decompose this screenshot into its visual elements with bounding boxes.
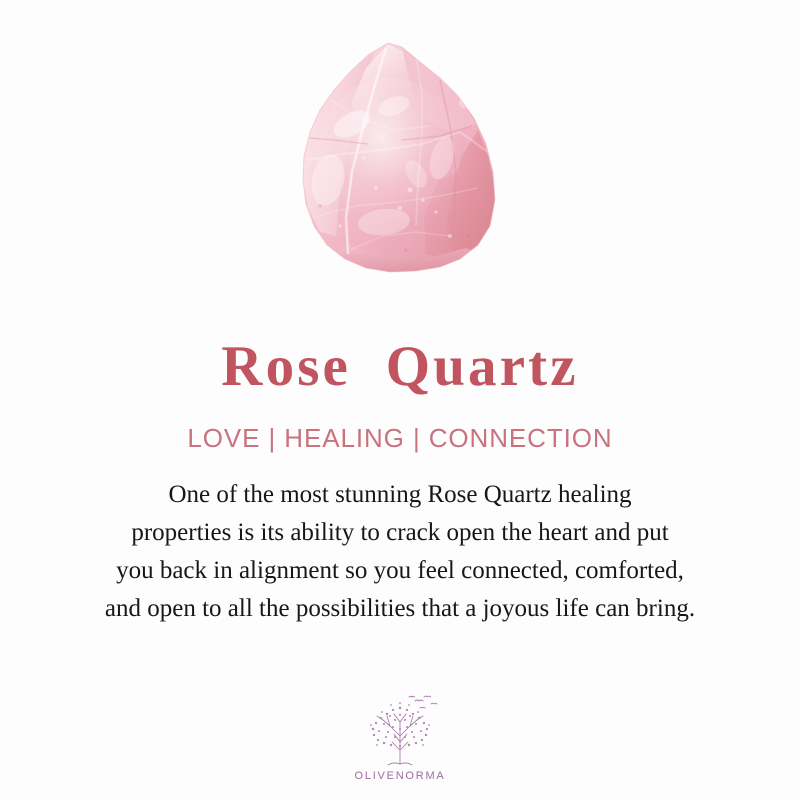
hero-image-area xyxy=(0,0,800,310)
description-line: One of the most stunning Rose Quartz hea… xyxy=(30,476,770,514)
page-title: Rose Quartz xyxy=(221,338,578,395)
description-text: One of the most stunning Rose Quartz hea… xyxy=(30,476,770,628)
description-line: and open to all the possibilities that a… xyxy=(30,590,770,628)
brand-logo: OLIVENORMA xyxy=(0,692,800,782)
tree-with-birds-icon xyxy=(357,692,443,768)
crystal-body xyxy=(290,40,510,285)
description-line: properties is its ability to crack open … xyxy=(30,514,770,552)
rose-quartz-infographic-card: Rose Quartz LOVE | HEALING | CONNECTION … xyxy=(0,0,800,800)
description-line: you back in alignment so you feel connec… xyxy=(30,552,770,590)
keywords-subtitle: LOVE | HEALING | CONNECTION xyxy=(187,423,612,454)
brand-name: OLIVENORMA xyxy=(355,770,446,782)
rose-quartz-crystal-image xyxy=(290,40,510,285)
